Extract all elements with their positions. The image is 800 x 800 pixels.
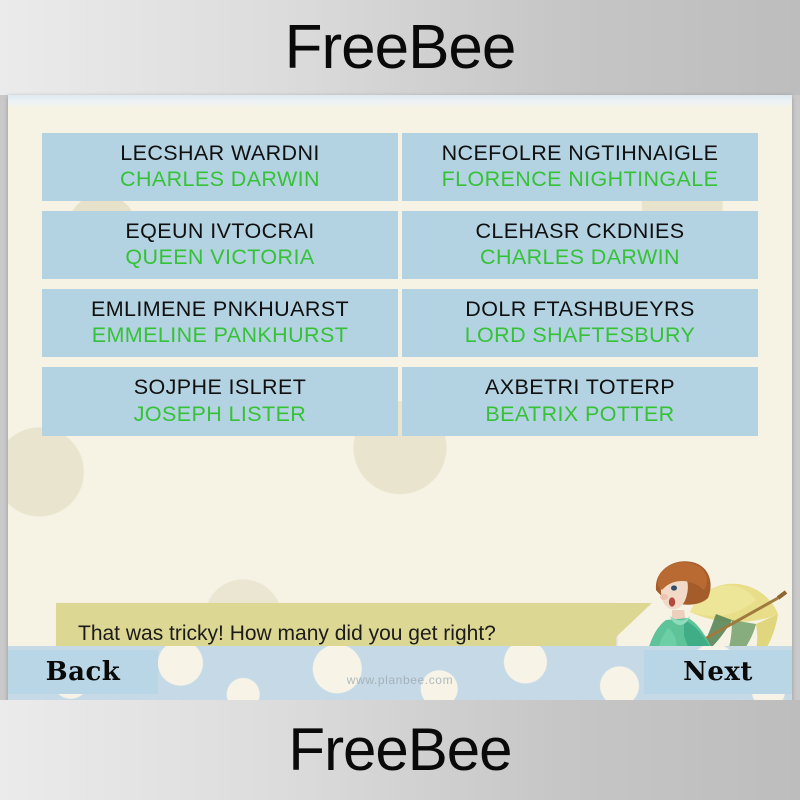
solution-text: BEATRIX POTTER [408,402,752,426]
answer-card[interactable]: NCEFOLRE NGTIHNAIGLE FLORENCE NIGHTINGAL… [402,133,758,201]
anagram-text: DOLR FTASHBUEYRS [408,297,752,321]
anagram-text: EQEUN IVTOCRAI [48,219,392,243]
solution-text: QUEEN VICTORIA [48,245,392,269]
answer-card[interactable]: DOLR FTASHBUEYRS LORD SHAFTESBURY [402,289,758,357]
slide-top-strip [8,95,792,108]
answer-card[interactable]: EQEUN IVTOCRAI QUEEN VICTORIA [42,211,398,279]
brand-title-bottom: FreeBee [288,720,511,780]
speech-bubble-text: That was tricky! How many did you get ri… [78,622,496,646]
next-button[interactable]: Next [644,650,792,694]
anagram-text: EMLIMENE PNKHUARST [48,297,392,321]
watermark-text: www.planbee.com [8,673,792,687]
bottom-brand-band: FreeBee [0,700,800,800]
solution-text: EMMELINE PANKHURST [48,323,392,347]
anagram-text: SOJPHE ISLRET [48,375,392,399]
brand-title-top: FreeBee [285,17,516,79]
solution-text: JOSEPH LISTER [48,402,392,426]
solution-text: CHARLES DARWIN [408,245,752,269]
answer-card[interactable]: SOJPHE ISLRET JOSEPH LISTER [42,367,398,435]
anagram-text: LECSHAR WARDNI [48,141,392,165]
anagram-text: AXBETRI TOTERP [408,375,752,399]
solution-text: FLORENCE NIGHTINGALE [408,167,752,191]
answer-card[interactable]: EMLIMENE PNKHUARST EMMELINE PANKHURST [42,289,398,357]
answer-card[interactable]: AXBETRI TOTERP BEATRIX POTTER [402,367,758,435]
anagram-text: NCEFOLRE NGTIHNAIGLE [408,141,752,165]
answer-grid: LECSHAR WARDNI CHARLES DARWIN NCEFOLRE N… [42,133,758,436]
anagram-text: CLEHASR CKDNIES [408,219,752,243]
answer-card[interactable]: LECSHAR WARDNI CHARLES DARWIN [42,133,398,201]
solution-text: CHARLES DARWIN [48,167,392,191]
top-brand-band: FreeBee [0,0,800,95]
slide-canvas: LECSHAR WARDNI CHARLES DARWIN NCEFOLRE N… [8,95,792,703]
solution-text: LORD SHAFTESBURY [408,323,752,347]
back-button[interactable]: Back [8,650,158,694]
answer-card[interactable]: CLEHASR CKDNIES CHARLES DARWIN [402,211,758,279]
